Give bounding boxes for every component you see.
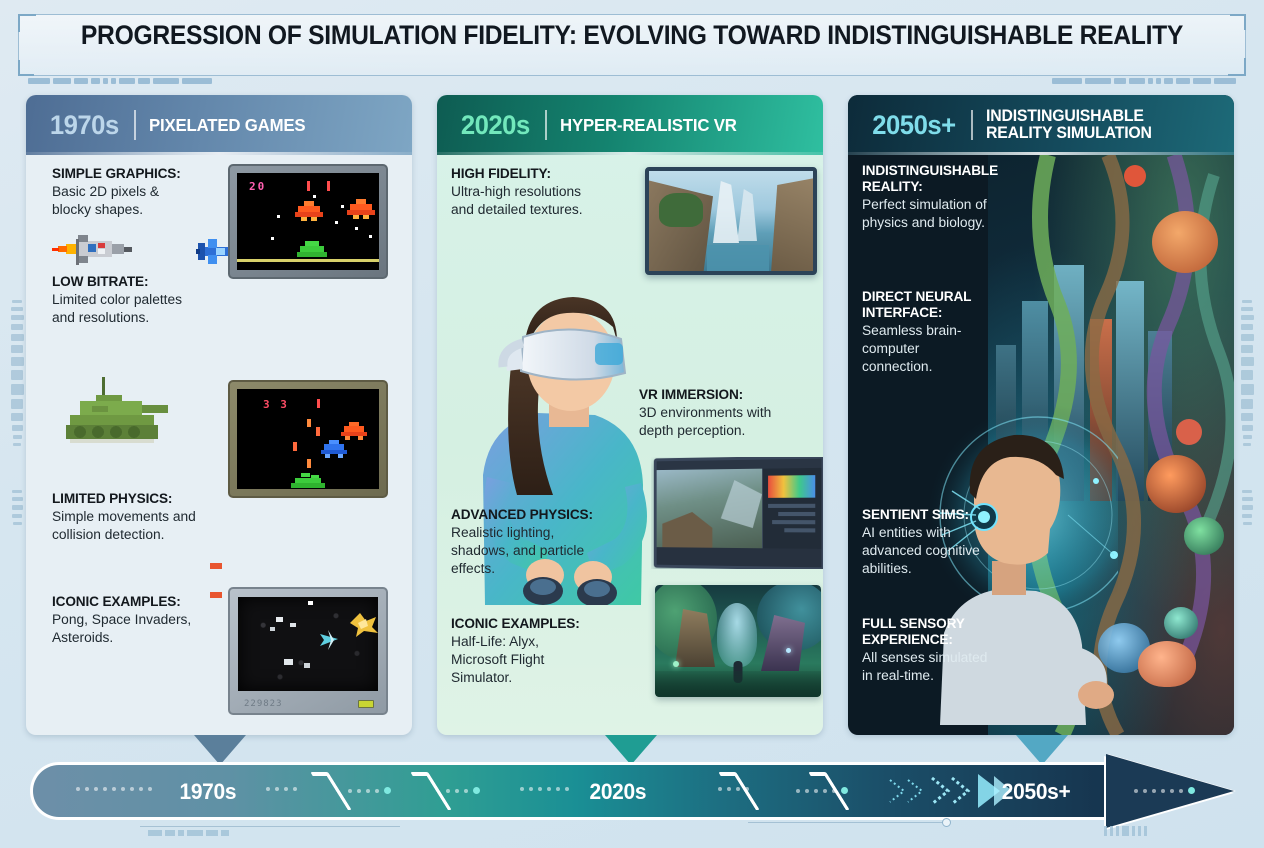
column-1970s-era: 1970s: [50, 110, 119, 141]
block-title: LIMITED PHYSICS:: [52, 492, 223, 508]
block-title: HIGH FIDELITY:: [451, 167, 630, 183]
column-2020s-body: HIGH FIDELITY: Ultra-high resolutionsand…: [437, 155, 823, 735]
block-title: DIRECT NEURAL INTERFACE:: [862, 290, 1041, 322]
column-1970s-header: 1970s PIXELATED GAMES: [26, 95, 412, 155]
block-title: INDISTINGUISHABLE REALITY:: [862, 164, 1041, 196]
pixel-rocket-ship-icon: [52, 233, 136, 271]
column-2020s[interactable]: 2020s HYPER-REALISTIC VR: [437, 95, 823, 735]
gaming-monitor[interactable]: [645, 167, 817, 275]
block-body: Half-Life: Alyx,Microsoft FlightSimulato…: [451, 633, 631, 688]
pointer-2050s: [1016, 735, 1068, 765]
crt-counter: 229823: [244, 699, 283, 709]
block-title: SIMPLE GRAPHICS:: [52, 167, 223, 183]
screen-score: 3 3: [263, 398, 289, 411]
heading-line-2: REALITY SIMULATION: [986, 124, 1152, 142]
timeline-dots-3: [348, 787, 391, 794]
block-title: ADVANCED PHYSICS:: [451, 508, 630, 524]
footer-node: [942, 818, 951, 827]
timeline-dots-7: [796, 787, 848, 794]
footer-line-right: [748, 822, 948, 823]
timeline-dots-8: [1134, 787, 1195, 794]
block-sentient-sims: SENTIENT SIMS: AI entities withadvanced …: [862, 508, 1048, 578]
footer-dashes-left: [148, 830, 229, 836]
column-2050s-body: INDISTINGUISHABLE REALITY: Perfect simul…: [848, 155, 1234, 735]
vr-controller-left: [523, 577, 563, 605]
timeline-dots-1: [76, 787, 152, 791]
timeline-dots-2: [266, 787, 297, 791]
screen-score: 20: [249, 180, 266, 193]
block-body: Simple movements andcollision detection.: [52, 508, 225, 544]
game-engine-editor[interactable]: [651, 457, 823, 569]
column-1970s-body: SIMPLE GRAPHICS: Basic 2D pixels &blocky…: [26, 155, 412, 735]
block-simple-graphics: SIMPLE GRAPHICS: Basic 2D pixels &blocky…: [52, 167, 230, 219]
pointer-1970s: [194, 735, 246, 765]
footer-line-left: [140, 826, 400, 827]
column-2020s-heading: HYPER-REALISTIC VR: [560, 116, 737, 134]
block-body: 3D environments withdepth perception.: [639, 404, 819, 440]
header-divider: [134, 110, 136, 140]
pixel-green-tank-icon: [56, 377, 168, 447]
block-body: Seamless brain-computerconnection.: [862, 322, 1042, 377]
block-direct-neural-interface: DIRECT NEURAL INTERFACE: Seamless brain-…: [862, 290, 1048, 376]
block-title: FULL SENSORY EXPERIENCE:: [862, 617, 1041, 649]
block-title: LOW BITRATE:: [52, 275, 223, 291]
timeline-dots-6: [718, 787, 749, 791]
timeline-label-2020s: 2020s: [589, 779, 646, 805]
asteroids-crt-screen[interactable]: 229823: [228, 587, 388, 715]
heading-line-1: INDISTINGUISHABLE: [986, 107, 1144, 125]
block-iconic-examples: ICONIC EXAMPLES: Pong, Space Invaders,As…: [52, 595, 230, 647]
block-title: VR IMMERSION:: [639, 388, 818, 404]
column-2050s-heading: INDISTINGUISHABLE REALITY SIMULATION: [986, 108, 1152, 143]
timeline-label-2050s: 2050s+: [1002, 779, 1071, 805]
column-2050s[interactable]: 2050s+ INDISTINGUISHABLE REALITY SIMULAT…: [848, 95, 1234, 735]
block-vr-immersion: VR IMMERSION: 3D environments withdepth …: [639, 388, 823, 440]
block-body: All senses simulatedin real-time.: [862, 649, 1042, 685]
title-right-dashes: [1052, 78, 1236, 84]
retro-shooter-screen[interactable]: 20: [228, 164, 388, 279]
block-advanced-physics: ADVANCED PHYSICS: Realistic lighting,sha…: [451, 508, 637, 578]
column-2050s-header: 2050s+ INDISTINGUISHABLE REALITY SIMULAT…: [848, 95, 1234, 155]
header-divider: [545, 110, 547, 140]
timeline-label-1970s: 1970s: [179, 779, 236, 805]
block-limited-physics: LIMITED PHYSICS: Simple movements andcol…: [52, 492, 230, 544]
block-full-sensory-experience: FULL SENSORY EXPERIENCE: All senses simu…: [862, 617, 1048, 685]
block-title: SENTIENT SIMS:: [862, 508, 1041, 524]
column-1970s[interactable]: 1970s PIXELATED GAMES SIMPLE GRAPHICS: B…: [26, 95, 412, 735]
fantasy-game-still[interactable]: [655, 585, 821, 697]
block-body: AI entities withadvanced cognitiveabilit…: [862, 524, 1042, 579]
block-iconic-examples: ICONIC EXAMPLES: Half-Life: Alyx,Microso…: [451, 617, 637, 687]
block-body: Perfect simulation ofphysics and biology…: [862, 196, 1042, 232]
timeline-dots-5: [520, 787, 569, 791]
right-tick-decoration: [1240, 300, 1254, 660]
block-body: Limited color palettesand resolutions.: [52, 291, 225, 327]
column-2020s-header: 2020s HYPER-REALISTIC VR: [437, 95, 823, 155]
space-invaders-screen[interactable]: 3 3: [228, 380, 388, 498]
block-body: Ultra-high resolutionsand detailed textu…: [451, 183, 631, 219]
pointer-2020s: [605, 735, 657, 765]
block-high-fidelity: HIGH FIDELITY: Ultra-high resolutionsand…: [451, 167, 637, 219]
block-body: Basic 2D pixels &blocky shapes.: [52, 183, 225, 219]
timeline[interactable]: 1970s 2020s 2050s+: [30, 762, 1234, 820]
timeline-dots-4: [446, 787, 480, 794]
column-2020s-era: 2020s: [461, 110, 530, 141]
block-title: ICONIC EXAMPLES:: [52, 595, 223, 611]
block-title: ICONIC EXAMPLES:: [451, 617, 630, 633]
footer-dashes-right: [1104, 826, 1147, 836]
block-low-bitrate: LOW BITRATE: Limited color palettesand r…: [52, 275, 230, 327]
column-1970s-heading: PIXELATED GAMES: [149, 116, 305, 134]
page-title: PROGRESSION OF SIMULATION FIDELITY: EVOL…: [44, 20, 1220, 51]
block-body: Realistic lighting,shadows, and particle…: [451, 524, 631, 579]
title-left-dashes: [28, 78, 212, 84]
block-indistinguishable-reality: INDISTINGUISHABLE REALITY: Perfect simul…: [862, 164, 1048, 232]
header-divider: [971, 110, 973, 140]
left-tick-decoration: [10, 300, 24, 660]
column-2050s-era: 2050s+: [872, 110, 955, 141]
block-body: Pong, Space Invaders,Asteroids.: [52, 611, 225, 647]
crt-power-led: [358, 700, 374, 708]
